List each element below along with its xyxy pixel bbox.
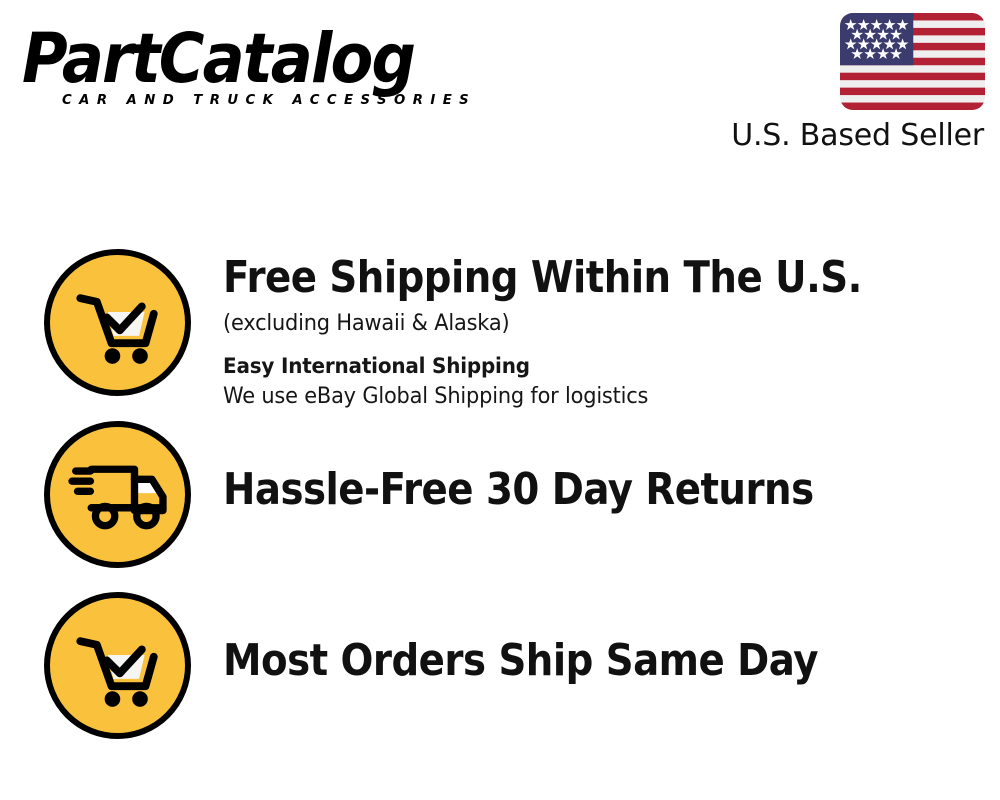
feature-title: Hassle-Free 30 Day Returns	[223, 465, 901, 515]
shopping-cart-check-icon	[44, 249, 191, 396]
brand-logo: PartCatalog CAR AND TRUCK ACCESSORIES	[22, 22, 492, 114]
feature-text-block: Free Shipping Within The U.S. (excluding…	[223, 253, 993, 412]
feature-title: Free Shipping Within The U.S.	[223, 253, 901, 303]
feature-subtitle: (excluding Hawaii & Alaska)	[223, 309, 955, 339]
brand-tagline: CAR AND TRUCK ACCESSORIES	[62, 92, 476, 108]
us-based-seller-label: U.S. Based Seller	[731, 118, 984, 154]
feature-text-block: Hassle-Free 30 Day Returns	[223, 465, 993, 515]
feature-title: Most Orders Ship Same Day	[223, 636, 901, 686]
delivery-truck-icon	[44, 421, 191, 568]
us-flag-icon	[840, 13, 985, 110]
shopping-cart-check-icon	[44, 592, 191, 739]
feature-secondary-heading: Easy International Shipping	[223, 351, 955, 381]
brand-wordmark: PartCatalog	[22, 22, 414, 95]
promotional-banner: PartCatalog CAR AND TRUCK ACCESSORIES	[0, 0, 1000, 800]
feature-secondary-detail: We use eBay Global Shipping for logistic…	[223, 382, 955, 412]
feature-text-block: Most Orders Ship Same Day	[223, 636, 993, 686]
